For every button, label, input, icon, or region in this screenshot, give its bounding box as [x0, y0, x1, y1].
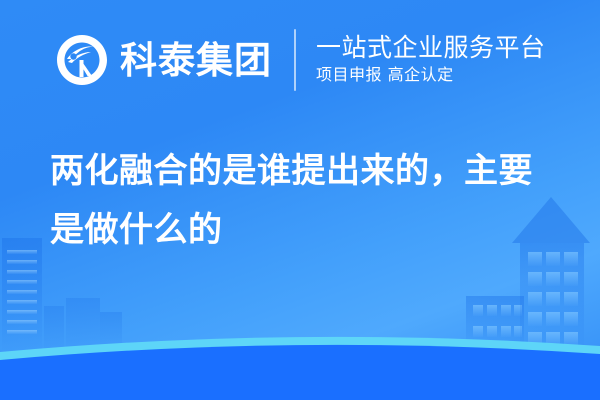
brand-name: 科泰集团: [120, 42, 272, 79]
tagline-block: 一站式企业服务平台 项目申报 高企认定: [316, 34, 546, 86]
ground-arc: [0, 337, 600, 400]
page-title: 两化融合的是谁提出来的，主要 是做什么的: [50, 142, 570, 260]
tagline-primary: 一站式企业服务平台: [316, 34, 546, 62]
skyline-right-low-block: [466, 296, 524, 350]
page-title-line-2: 是做什么的: [50, 201, 570, 260]
page-title-line-1: 两化融合的是谁提出来的，主要: [50, 142, 570, 201]
ketai-circular-logo-icon: [54, 32, 110, 88]
brand-header: 科泰集团 一站式企业服务平台 项目申报 高企认定: [54, 26, 546, 94]
banner-image: 科泰集团 一站式企业服务平台 项目申报 高企认定 两化融合的是谁提出来的，主要 …: [0, 0, 600, 400]
skyline-left-low-block: [44, 298, 122, 350]
tagline-secondary: 项目申报 高企认定: [316, 65, 546, 86]
skyline-left-tower: [2, 238, 42, 350]
header-divider: [294, 29, 296, 91]
